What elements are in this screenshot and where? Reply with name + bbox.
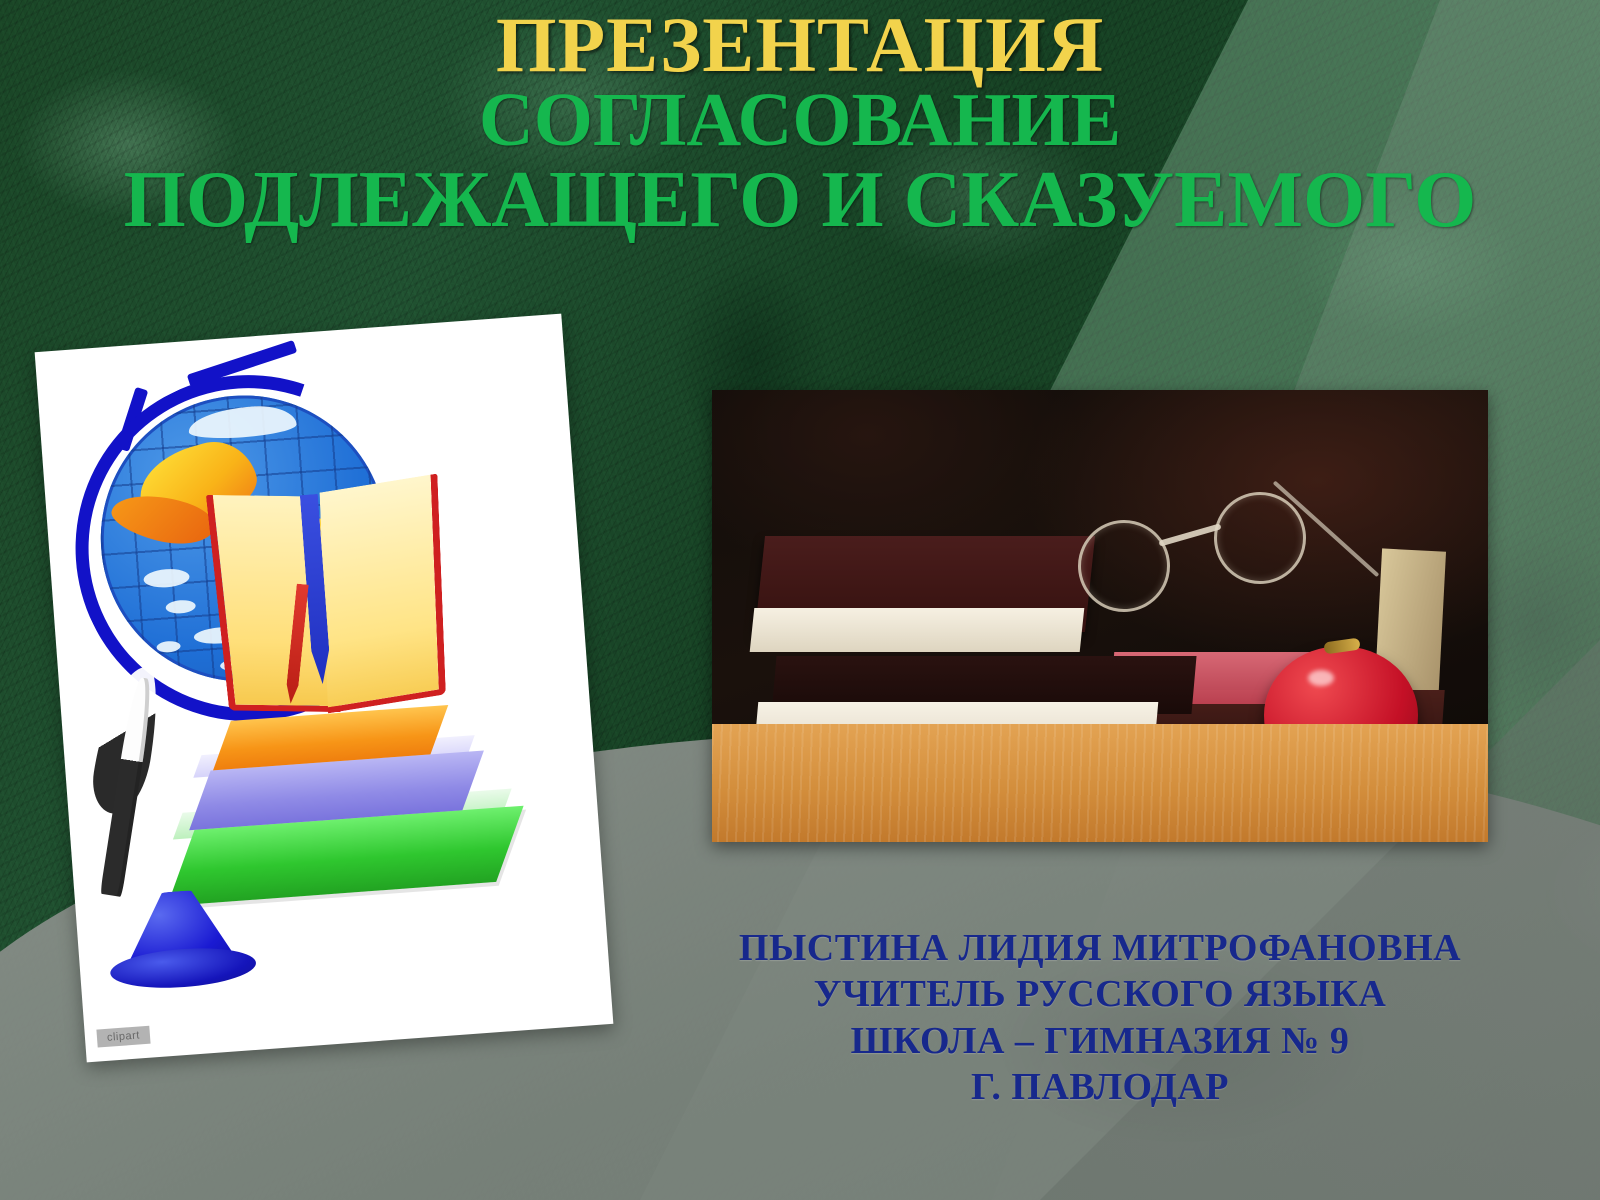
- eyeglasses-icon: [1068, 486, 1318, 616]
- apple-highlight: [1308, 670, 1334, 686]
- author-school: ШКОЛА – ГИМНАЗИЯ № 9: [700, 1018, 1500, 1064]
- photo-top-book-pages: [750, 608, 1085, 652]
- clipart-watermark: clipart: [96, 1026, 150, 1048]
- eyeglasses-lens: [1072, 514, 1176, 618]
- subtitle-line-1: СОГЛАСОВАНИЕ: [0, 82, 1600, 160]
- presentation-slide: ПРЕЗЕНТАЦИЯ СОГЛАСОВАНИЕ ПОДЛЕЖАЩЕГО И С…: [0, 0, 1600, 1200]
- books-photo: [712, 390, 1488, 842]
- subtitle-line-2: ПОДЛЕЖАЩЕГО И СКАЗУЕМОГО: [0, 160, 1600, 242]
- clipart-card: clipart: [35, 314, 614, 1063]
- page-title: ПРЕЗЕНТАЦИЯ: [0, 8, 1600, 82]
- eyeglasses-bridge: [1158, 523, 1221, 546]
- author-block: ПЫСТИНА ЛИДИЯ МИТРОФАНОВНА УЧИТЕЛЬ РУССК…: [700, 925, 1500, 1110]
- open-book-right-page: [320, 473, 446, 713]
- inkwell-base-icon: [109, 944, 257, 993]
- education-clipart: clipart: [35, 314, 614, 1063]
- photo-wooden-table: [712, 724, 1488, 842]
- open-book-icon: [195, 473, 463, 741]
- title-block: ПРЕЗЕНТАЦИЯ СОГЛАСОВАНИЕ ПОДЛЕЖАЩЕГО И С…: [0, 8, 1600, 241]
- author-city: Г. ПАВЛОДАР: [700, 1064, 1500, 1110]
- author-role: УЧИТЕЛЬ РУССКОГО ЯЗЫКА: [700, 971, 1500, 1017]
- author-name: ПЫСТИНА ЛИДИЯ МИТРОФАНОВНА: [700, 925, 1500, 971]
